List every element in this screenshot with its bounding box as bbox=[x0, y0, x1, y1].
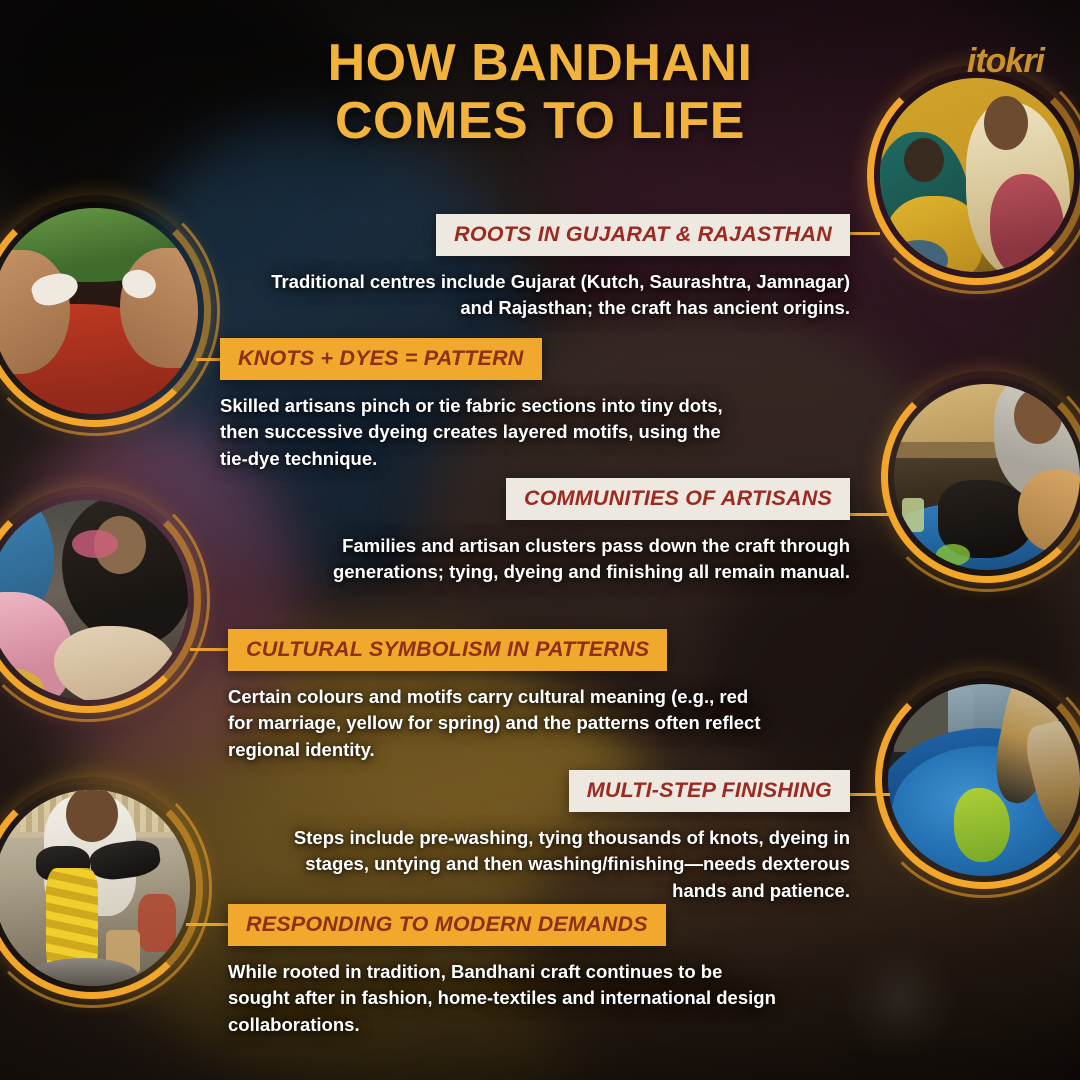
section-roots-in-gujarat-rajasthan: ROOTS IN GUJARAT & RAJASTHAN Traditional… bbox=[260, 214, 850, 322]
background-motif bbox=[840, 940, 960, 1060]
photo-dyer-blue-tub bbox=[894, 384, 1080, 570]
itokri-logo[interactable]: itokri bbox=[967, 42, 1044, 81]
section-responding-to-modern-demands: RESPONDING TO MODERN DEMANDS While roote… bbox=[228, 904, 788, 1038]
infographic-poster: HOW BANDHANI COMES TO LIFE itokri bbox=[0, 0, 1080, 1080]
section-multi-step-finishing: MULTI-STEP FINISHING Steps include pre-w… bbox=[290, 770, 850, 904]
section-cultural-symbolism-in-patterns: CULTURAL SYMBOLISM IN PATTERNS Certain c… bbox=[228, 629, 773, 763]
page-title-line-2: COMES TO LIFE bbox=[0, 92, 1080, 150]
section-knots-dyes-pattern: KNOTS + DYES = PATTERN Skilled artisans … bbox=[220, 338, 750, 472]
section-label: CULTURAL SYMBOLISM IN PATTERNS bbox=[228, 629, 667, 671]
section-body: Certain colours and motifs carry cultura… bbox=[228, 684, 773, 763]
section-body: Traditional centres include Gujarat (Kut… bbox=[260, 269, 850, 322]
section-label: MULTI-STEP FINISHING bbox=[569, 770, 850, 812]
page-title-line-1: HOW BANDHANI bbox=[0, 34, 1080, 92]
section-body: Skilled artisans pinch or tie fabric sec… bbox=[220, 393, 750, 472]
section-label: COMMUNITIES OF ARTISANS bbox=[506, 478, 850, 520]
section-label: ROOTS IN GUJARAT & RAJASTHAN bbox=[436, 214, 850, 256]
section-body: Families and artisan clusters pass down … bbox=[240, 533, 850, 586]
photo-man-lifting-yellow-fabric bbox=[0, 790, 190, 986]
section-body: Steps include pre-washing, tying thousan… bbox=[290, 825, 850, 904]
photo-indigo-dye-vat bbox=[888, 684, 1080, 876]
photo-hands-tying-red-fabric bbox=[0, 208, 198, 414]
section-label: RESPONDING TO MODERN DEMANDS bbox=[228, 904, 666, 946]
section-label: KNOTS + DYES = PATTERN bbox=[220, 338, 542, 380]
connector-line bbox=[190, 648, 228, 651]
section-communities-of-artisans: COMMUNITIES OF ARTISANS Families and art… bbox=[240, 478, 850, 586]
connector-line bbox=[186, 923, 228, 926]
page-title: HOW BANDHANI COMES TO LIFE bbox=[0, 34, 1080, 150]
section-body: While rooted in tradition, Bandhani craf… bbox=[228, 959, 788, 1038]
photo-elderly-woman-tying bbox=[0, 500, 188, 700]
